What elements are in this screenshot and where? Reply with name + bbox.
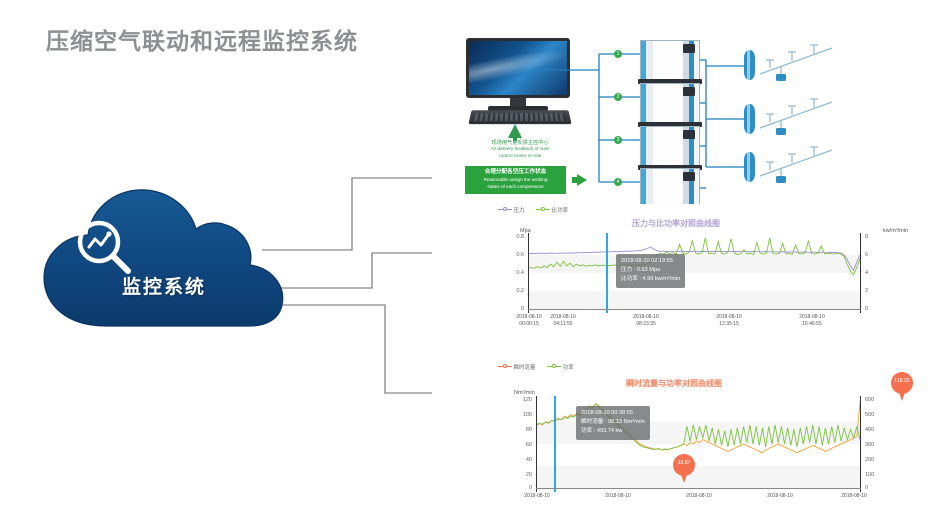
chart2-xtick-3-date: 2018-08-10	[745, 493, 815, 500]
compressor-1	[640, 40, 700, 84]
chart1-ytick-left-2: 0.4	[500, 270, 524, 276]
chart1-xtick-3-date: 2018-08-10	[694, 314, 764, 321]
chart2-ytick-left-2: 80	[508, 427, 532, 433]
chart2-y-axis-right	[860, 396, 861, 492]
legend-label-power: 功率	[563, 365, 574, 371]
magnifier-chart-icon	[72, 216, 136, 280]
chart2-ytick-right-3: 300	[865, 442, 874, 448]
chart1-ytick-left-0: 0.8	[500, 234, 524, 240]
chart2-ytick-left-4: 40	[508, 457, 532, 463]
chart-flow-power: 瞬时流量 功率 瞬时流量与功率对照曲线图 Nm³/min 2018-08-10 …	[486, 362, 906, 507]
chart1-xtick-4: 2018-08-10 16:46:55	[777, 314, 847, 328]
chart1-ytick-right-2: 4	[865, 270, 868, 276]
chart2-ylabel-left: Nm³/min	[514, 390, 535, 396]
chart2-xtick-4-date: 2018-08-10	[819, 493, 889, 500]
chart1-xtick-3: 2018-08-10 12:35:15	[694, 314, 764, 328]
system-topology-diagram: 现场用气量反馈主控中心 Air delivery feedback of mai…	[432, 14, 944, 206]
chart2-xtick-0-date: 2018-08-10	[502, 493, 572, 500]
node-dot-4[interactable]: 4	[614, 178, 622, 186]
chart1-series-paths	[528, 237, 860, 309]
chart1-xtick-2-time: 08:23:35	[611, 321, 681, 328]
chart2-ytick-right-6: 0	[865, 485, 868, 491]
compressor-panel	[683, 87, 695, 96]
chart1-x-axis	[528, 309, 861, 310]
chart2-ytick-right-2: 400	[865, 427, 874, 433]
chart1-ytick-right-3: 2	[865, 288, 868, 294]
chart1-tooltip-row-2: 比功率 : 4.99 kw/m³/min	[621, 275, 680, 284]
chart1-ytick-right-1: 6	[865, 252, 868, 258]
chart1-tooltip-time: 2018-08-10 02:19:55	[621, 257, 680, 266]
chart2-plot-area: 2018-08-10 00:38:55 瞬时流量 : 98.13 Nm³/min…	[536, 400, 860, 488]
chart1-tooltip-row-1: 压力 : 0.63 Mpa	[621, 266, 680, 275]
chart2-legend: 瞬时流量 功率	[498, 363, 584, 371]
air-tank-3	[744, 152, 755, 182]
chart2-title: 瞬时流量与功率对照曲线图	[626, 378, 722, 389]
chart2-xtick-1-date: 2018-08-10	[583, 493, 653, 500]
chart2-tooltip-row-2: 功率 : 493.74 kw	[581, 427, 645, 436]
chart2-cursor-line[interactable]	[554, 396, 556, 492]
chart1-xtick-1-time: 04:11:55	[528, 321, 598, 328]
chart1-ytick-left-3: 0.2	[500, 288, 524, 294]
chart1-y-axis-right	[860, 233, 861, 313]
legend-item-specific-power[interactable]: 比功率	[536, 206, 568, 214]
compressor-3	[640, 126, 700, 170]
legend-label-pressure: 压力	[514, 208, 525, 214]
legend-label-specific-power: 比功率	[552, 208, 569, 214]
air-tank-2	[744, 104, 755, 134]
legend-marker-flow	[498, 364, 512, 370]
chart1-ytick-left-4: 0	[500, 306, 524, 312]
chart2-ytick-left-1: 100	[508, 412, 532, 418]
legend-marker-power	[547, 364, 561, 370]
cloud-label: 监控系统	[36, 272, 292, 299]
chart1-y-axis-left	[528, 233, 529, 313]
legend-label-flow: 瞬时流量	[514, 365, 536, 371]
chart1-cursor-line[interactable]	[606, 233, 608, 313]
chart2-ytick-left-0: 120	[508, 397, 532, 403]
chart1-ytick-left-1: 0.6	[500, 252, 524, 258]
chart1-xtick-4-time: 16:46:55	[777, 321, 847, 328]
chart2-ytick-right-0: 600	[865, 397, 874, 403]
chart1-xtick-1-date: 2018-08-10	[528, 314, 598, 321]
legend-marker-pressure	[498, 207, 512, 213]
chart1-xtick-1: 2018-08-10 04:11:55	[528, 314, 598, 328]
chart1-ylabel-right: kw/m³/min	[883, 228, 908, 234]
chart1-ytick-right-4: 0	[865, 306, 868, 312]
node-dot-2[interactable]: 2	[614, 93, 622, 101]
chart2-ytick-left-3: 60	[508, 442, 532, 448]
chart2-ytick-left-6: 0	[508, 485, 532, 491]
compressor-panel	[683, 130, 695, 139]
compressor-panel	[683, 172, 695, 181]
chart2-xtick-3: 2018-08-10	[745, 493, 815, 500]
chart2-tooltip: 2018-08-10 00:38:55 瞬时流量 : 98.13 Nm³/min…	[576, 406, 650, 440]
legend-item-power[interactable]: 功率	[547, 363, 574, 371]
chart1-tooltip: 2018-08-10 02:19:55 压力 : 0.63 Mpa 比功率 : …	[616, 254, 685, 288]
chart1-xtick-3-time: 12:35:15	[694, 321, 764, 328]
page-title: 压缩空气联动和远程监控系统	[46, 22, 358, 56]
chart2-y-axis-left	[536, 396, 537, 492]
chart2-ytick-right-1: 500	[865, 412, 874, 418]
chart2-ytick-right-4: 200	[865, 457, 874, 463]
max-marker-label: 118.55	[891, 378, 913, 384]
legend-item-flow[interactable]: 瞬时流量	[498, 363, 536, 371]
chart2-ytick-right-5: 100	[865, 472, 874, 478]
chart1-xtick-4-date: 2018-08-10	[777, 314, 847, 321]
chart1-ytick-right-0: 8	[865, 234, 868, 240]
distribution-rails	[756, 38, 876, 198]
pin-tip	[679, 469, 689, 483]
chart2-tooltip-row-1: 瞬时流量 : 98.13 Nm³/min	[581, 418, 645, 427]
chart2-ytick-left-5: 20	[508, 472, 532, 478]
chart2-xtick-1: 2018-08-10	[583, 493, 653, 500]
chart1-legend: 压力 比功率	[498, 206, 578, 214]
chart1-xtick-2-date: 2018-08-10	[611, 314, 681, 321]
chart2-xtick-2-date: 2018-08-10	[664, 493, 734, 500]
chart2-xtick-0: 2018-08-10	[502, 493, 572, 500]
chart-pressure-specific-power: 压力 比功率 压力与比功率对照曲线图 Mpa kw/m³/min 2018-08…	[486, 204, 906, 334]
node-dot-1[interactable]: 1	[614, 50, 622, 58]
chart2-tooltip-time: 2018-08-10 00:38:55	[581, 409, 645, 418]
min-marker-pin[interactable]: 33.87	[673, 454, 695, 484]
chart1-title: 压力与比功率对照曲线图	[632, 218, 720, 229]
legend-item-pressure[interactable]: 压力	[498, 206, 525, 214]
slide-root: 压缩空气联动和远程监控系统 监控系统	[0, 0, 945, 529]
pin-tip	[897, 387, 907, 401]
chart2-xtick-2: 2018-08-10	[664, 493, 734, 500]
min-marker-label: 33.87	[673, 460, 695, 466]
chart2-x-axis	[536, 488, 861, 489]
chart1-xtick-2: 2018-08-10 08:23:35	[611, 314, 681, 328]
chart2-xtick-4: 2018-08-10	[819, 493, 889, 500]
chart1-plot-area: 2018-08-10 02:19:55 压力 : 0.63 Mpa 比功率 : …	[528, 237, 860, 309]
compressor-2	[640, 83, 700, 127]
compressor-panel	[683, 44, 695, 53]
max-marker-pin[interactable]: 118.55	[891, 372, 913, 402]
air-tank-1	[744, 50, 755, 80]
monitoring-cloud[interactable]: 监控系统	[36, 186, 292, 331]
legend-marker-specific-power	[536, 207, 550, 213]
node-dot-3[interactable]: 3	[614, 136, 622, 144]
